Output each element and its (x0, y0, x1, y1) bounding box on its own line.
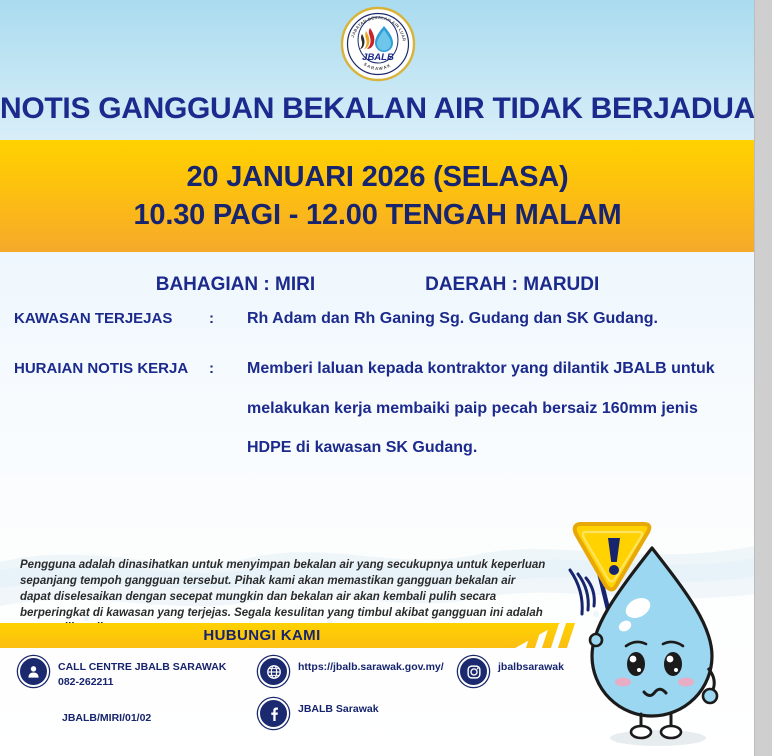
division-label: BAHAGIAN : MIRI (156, 274, 315, 296)
notice-date: 20 JANUARI 2026 (SELASA) (187, 158, 569, 196)
poster-body: BAHAGIAN : MIRI DAERAH : MARUDI KAWASAN … (0, 252, 755, 756)
district-label: DAERAH : MARUDI (425, 274, 599, 296)
website-text: https://jbalb.sarawak.gov.my/ (298, 656, 444, 675)
facebook-text: JBALB Sarawak (298, 698, 379, 717)
reference-code: JBALB/MIRI/01/02 (62, 712, 151, 724)
contact-call-centre[interactable]: CALL CENTRE JBALB SARAWAK 082-262211 (18, 656, 226, 690)
call-centre-number: 082-262211 (58, 675, 226, 690)
instagram-text: jbalbsarawak (498, 656, 564, 675)
notice-time: 10.30 PAGI - 12.00 TENGAH MALAM (134, 196, 622, 234)
facebook-icon (258, 698, 289, 729)
user-icon (18, 656, 49, 687)
jbalb-logo: JBALB JABATAN BEKALAN AIR LUAR BANDAR SA… (340, 6, 416, 82)
work-description-line: HDPE di kawasan SK Gudang. (247, 439, 715, 457)
jbalb-logo-icon: JBALB JABATAN BEKALAN AIR LUAR BANDAR SA… (340, 6, 416, 82)
work-description-line: Memberi laluan kepada kontraktor yang di… (247, 360, 715, 378)
contact-website[interactable]: https://jbalb.sarawak.gov.my/ (258, 656, 444, 687)
notice-poster: JBALB JABATAN BEKALAN AIR LUAR BANDAR SA… (0, 0, 755, 756)
affected-area-value: Rh Adam dan Rh Ganing Sg. Gudang dan SK … (247, 310, 658, 328)
work-description-value: Memberi laluan kepada kontraktor yang di… (247, 360, 715, 457)
facebook-handle: JBALB Sarawak (298, 702, 379, 717)
page-title: NOTIS GANGGUAN BEKALAN AIR TIDAK BERJADU… (0, 92, 755, 126)
banner-stripe (558, 623, 575, 648)
work-description-field: HURAIAN NOTIS KERJA : Memberi laluan kep… (14, 360, 725, 457)
contact-banner-label: HUBUNGI KAMI (203, 627, 320, 644)
right-edge-scrollbar[interactable] (754, 0, 772, 756)
date-time-banner: 20 JANUARI 2026 (SELASA) 10.30 PAGI - 12… (0, 140, 755, 252)
contact-facebook[interactable]: JBALB Sarawak (258, 698, 379, 729)
website-url: https://jbalb.sarawak.gov.my/ (298, 660, 444, 675)
affected-area-label: KAWASAN TERJEJAS (14, 310, 209, 327)
poster-header: JBALB JABATAN BEKALAN AIR LUAR BANDAR SA… (0, 0, 755, 140)
instagram-handle: jbalbsarawak (498, 660, 564, 675)
call-centre-name: CALL CENTRE JBALB SARAWAK (58, 660, 226, 675)
logo-wordmark: JBALB (362, 52, 394, 63)
affected-area-field: KAWASAN TERJEJAS : Rh Adam dan Rh Ganing… (14, 310, 741, 328)
contact-instagram[interactable]: jbalbsarawak (458, 656, 564, 687)
affected-area-colon: : (209, 310, 247, 327)
work-description-colon: : (209, 360, 247, 377)
call-centre-text: CALL CENTRE JBALB SARAWAK 082-262211 (58, 656, 226, 690)
contact-banner: HUBUNGI KAMI (0, 623, 560, 648)
contact-list: CALL CENTRE JBALB SARAWAK 082-262211 JBA… (0, 656, 755, 756)
work-description-label: HURAIAN NOTIS KERJA (14, 360, 209, 377)
work-description-line: melakukan kerja membaiki paip pecah bers… (247, 400, 715, 418)
region-row: BAHAGIAN : MIRI DAERAH : MARUDI (0, 274, 755, 296)
instagram-icon (458, 656, 489, 687)
globe-icon (258, 656, 289, 687)
